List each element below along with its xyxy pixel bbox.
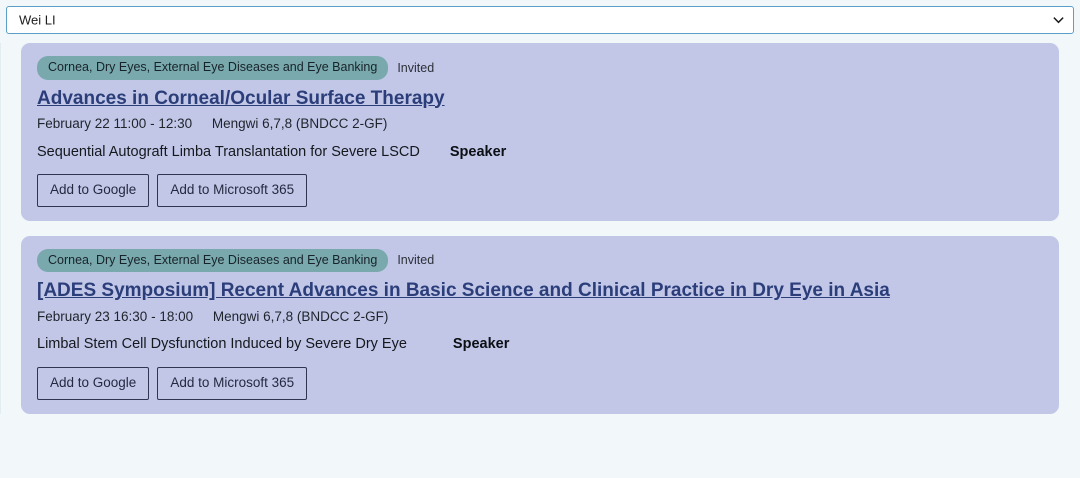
add-to-microsoft-button[interactable]: Add to Microsoft 365 [157,367,307,400]
person-selector[interactable]: Wei LI [6,6,1074,34]
calendar-button-row: Add to Google Add to Microsoft 365 [37,367,1043,400]
session-datetime: February 22 11:00 - 12:30 [37,116,192,131]
talk-title: Sequential Autograft Limba Translantatio… [37,143,420,162]
add-to-google-button[interactable]: Add to Google [37,367,149,400]
session-card: Cornea, Dry Eyes, External Eye Diseases … [21,43,1059,221]
session-venue: Mengwi 6,7,8 (BNDCC 2-GF) [213,309,389,324]
session-venue: Mengwi 6,7,8 (BNDCC 2-GF) [212,116,388,131]
talk-row: Limbal Stem Cell Dysfunction Induced by … [37,335,1043,354]
person-selector-value: Wei LI [19,14,56,27]
badge-row: Cornea, Dry Eyes, External Eye Diseases … [37,56,1043,80]
session-meta: February 23 16:30 - 18:00 Mengwi 6,7,8 (… [37,308,1043,326]
status-badge: Cornea, Dry Eyes, External Eye Diseases … [37,249,388,273]
session-title-link[interactable]: Advances in Corneal/Ocular Surface Thera… [37,88,445,111]
talk-role: Speaker [453,335,509,354]
session-list: Cornea, Dry Eyes, External Eye Diseases … [0,43,1080,414]
session-card: Cornea, Dry Eyes, External Eye Diseases … [21,236,1059,414]
invitation-label: Invited [397,254,434,267]
session-meta: February 22 11:00 - 12:30 Mengwi 6,7,8 (… [37,115,1043,133]
talk-row: Sequential Autograft Limba Translantatio… [37,143,1043,162]
status-badge: Cornea, Dry Eyes, External Eye Diseases … [37,56,388,80]
calendar-button-row: Add to Google Add to Microsoft 365 [37,174,1043,207]
add-to-microsoft-button[interactable]: Add to Microsoft 365 [157,174,307,207]
talk-role: Speaker [450,143,506,162]
session-datetime: February 23 16:30 - 18:00 [37,309,193,324]
chevron-down-icon [1053,15,1064,26]
add-to-google-button[interactable]: Add to Google [37,174,149,207]
invitation-label: Invited [397,62,434,75]
session-title-link[interactable]: [ADES Symposium] Recent Advances in Basi… [37,280,890,303]
badge-row: Cornea, Dry Eyes, External Eye Diseases … [37,249,1043,273]
talk-title: Limbal Stem Cell Dysfunction Induced by … [37,335,407,354]
